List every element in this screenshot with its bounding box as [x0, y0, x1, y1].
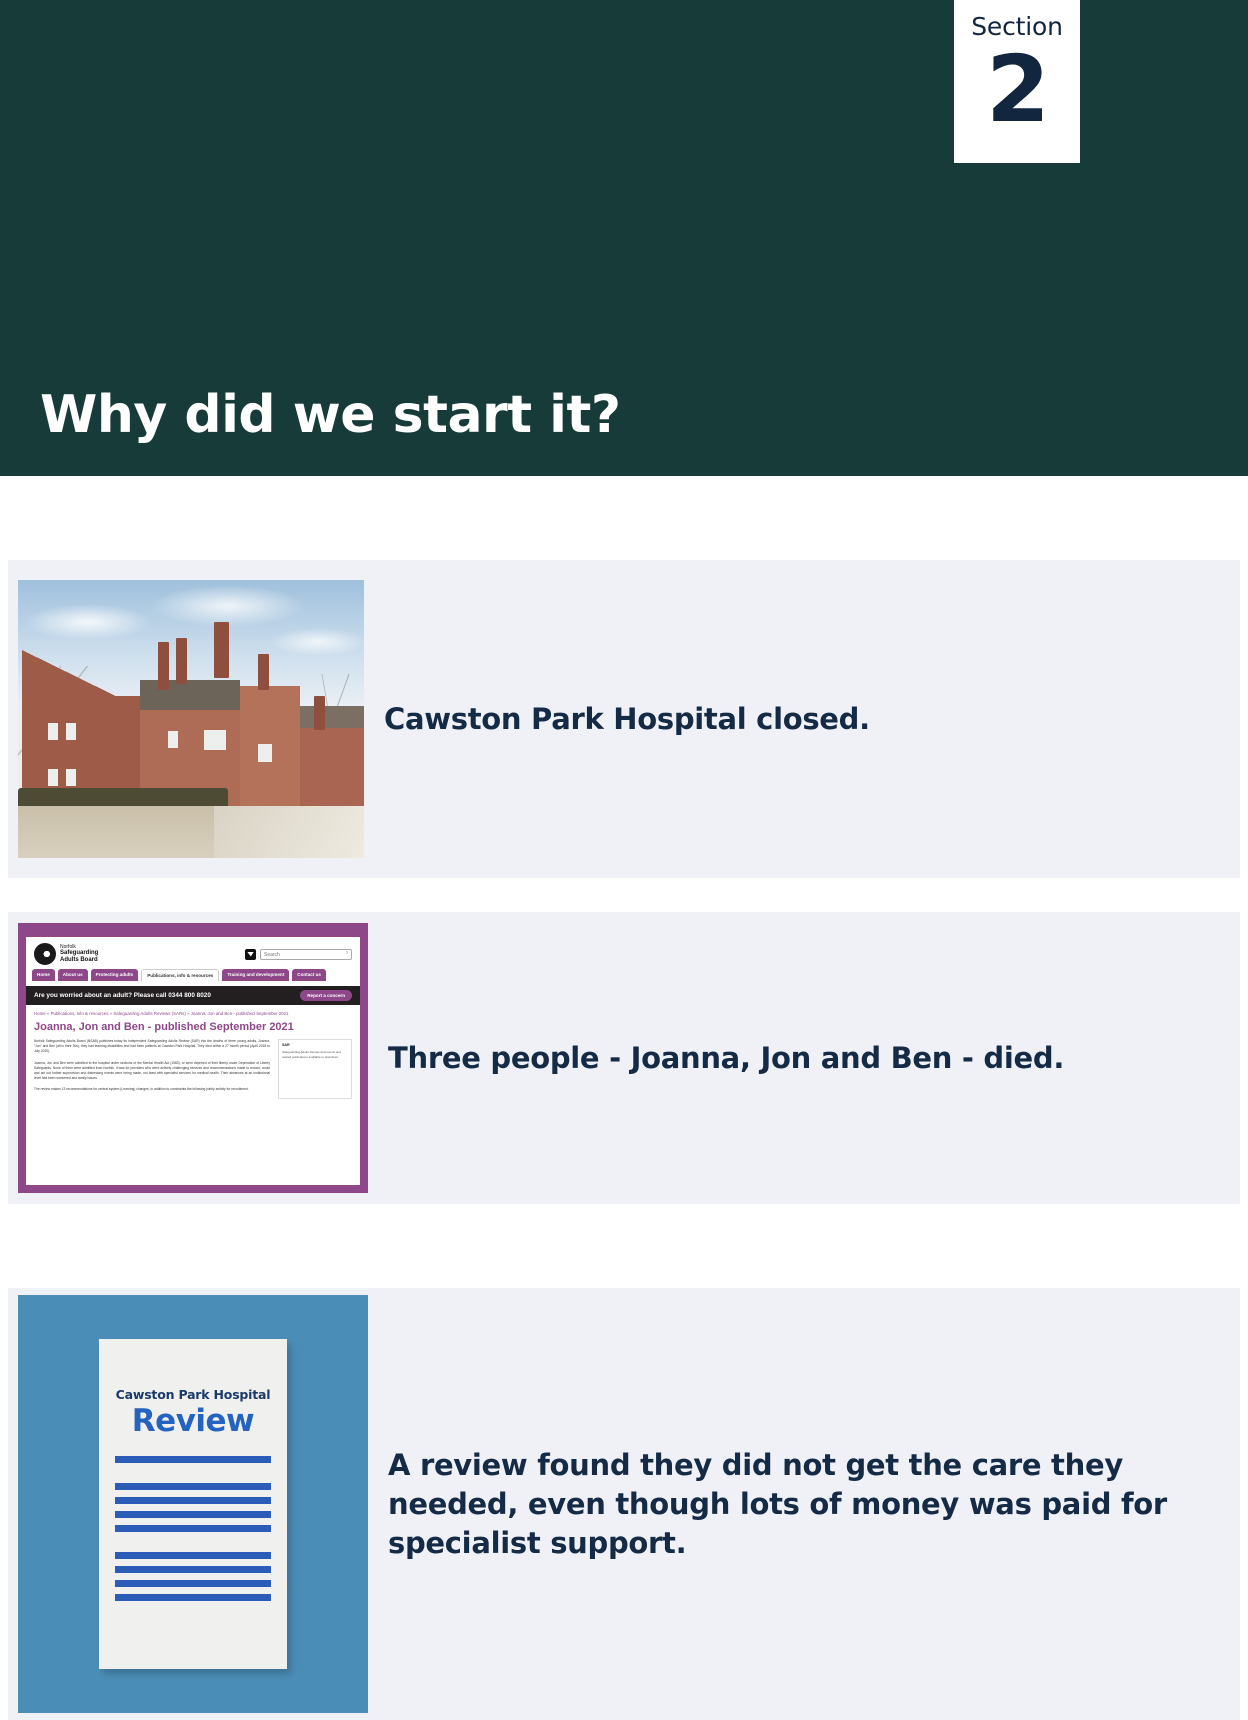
chimney — [214, 622, 229, 678]
window — [168, 731, 178, 748]
row-caption-hospital-closed: Cawston Park Hospital closed. — [384, 700, 870, 739]
website-page-heading: Joanna, Jon and Ben - published Septembe… — [26, 1016, 360, 1037]
website-paragraph: The review makes 13 recommendations for … — [34, 1087, 270, 1092]
window — [258, 744, 272, 762]
search-input[interactable]: Search — [260, 949, 352, 960]
chimney — [158, 642, 169, 690]
nav-item-contact-us[interactable]: Contact us — [292, 969, 326, 981]
page-header: Section 2 Why did we start it? — [0, 0, 1248, 476]
nsab-website: Norfolk Safeguarding Adults Board Search… — [26, 937, 360, 1185]
website-paragraph: Joanna, Jon and Ben were admitted to the… — [34, 1061, 270, 1082]
chimney — [314, 696, 325, 730]
document-line — [115, 1566, 271, 1573]
nav-item-publications[interactable]: Publications, info & resources — [141, 969, 219, 981]
review-document-card: Cawston Park Hospital Review — [99, 1339, 287, 1669]
document-subtitle: Cawston Park Hospital — [115, 1387, 271, 1402]
window — [66, 723, 76, 740]
document-line-gap — [115, 1470, 271, 1483]
row-caption-review-found: A review found they did not get the care… — [388, 1446, 1240, 1563]
website-nav: Home About us Protecting adults Publicat… — [26, 967, 360, 985]
document-line — [115, 1456, 271, 1463]
logo-line-3: Adults Board — [60, 957, 98, 963]
website-search-area: Search — [245, 949, 352, 960]
document-line — [115, 1552, 271, 1559]
driveway — [214, 806, 364, 858]
nav-item-protecting-adults[interactable]: Protecting adults — [91, 969, 139, 981]
document-text-lines — [115, 1456, 271, 1601]
document-title: Review — [115, 1402, 271, 1440]
website-sidebar: SAR Safeguarding Adults Review documents… — [278, 1039, 352, 1099]
document-line — [115, 1511, 271, 1518]
nav-item-training[interactable]: Training and development — [222, 969, 289, 981]
nsab-logo: Norfolk Safeguarding Adults Board — [34, 943, 98, 965]
content-row-three-people-died: Norfolk Safeguarding Adults Board Search… — [8, 912, 1240, 1204]
window — [48, 723, 58, 740]
screenshot-nsab-website-frame: Norfolk Safeguarding Adults Board Search… — [18, 923, 368, 1193]
document-line — [115, 1580, 271, 1587]
document-line — [115, 1497, 271, 1504]
chimney — [176, 638, 187, 684]
twitter-icon[interactable] — [245, 949, 256, 960]
website-alert-banner: Are you worried about an adult? Please c… — [26, 986, 360, 1005]
row-caption-three-people-died: Three people - Joanna, Jon and Ben - die… — [388, 1039, 1064, 1078]
nsab-logo-mark-icon — [34, 943, 56, 965]
media-container: Cawston Park Hospital Review — [18, 1295, 368, 1713]
report-a-concern-button[interactable]: Report a concern — [300, 990, 352, 1001]
logo-line-2: Safeguarding — [60, 950, 98, 956]
section-badge: Section 2 — [954, 0, 1080, 163]
document-line-gap — [115, 1539, 271, 1552]
nav-item-about-us[interactable]: About us — [58, 969, 88, 981]
website-header: Norfolk Safeguarding Adults Board Search — [26, 937, 360, 967]
building-right-roof — [300, 706, 364, 728]
content-row-hospital-closed: Cawston Park Hospital closed. — [8, 560, 1240, 878]
website-paragraph: Norfolk Safeguarding Adults Board (NSAB)… — [34, 1039, 270, 1055]
media-container: Norfolk Safeguarding Adults Board Search… — [18, 923, 368, 1193]
breadcrumb[interactable]: Home » Publications, info & resources » … — [26, 1005, 360, 1016]
nav-item-home[interactable]: Home — [32, 969, 55, 981]
alert-message: Are you worried about an adult? Please c… — [34, 992, 211, 999]
document-line — [115, 1594, 271, 1601]
window — [204, 730, 226, 750]
nsab-logo-text: Norfolk Safeguarding Adults Board — [60, 945, 98, 963]
document-line — [115, 1483, 271, 1490]
website-main-column: Norfolk Safeguarding Adults Board (NSAB)… — [34, 1039, 270, 1099]
section-badge-number: 2 — [986, 44, 1048, 136]
document-line — [115, 1525, 271, 1532]
content-row-review-found: Cawston Park Hospital Review A revi — [8, 1288, 1240, 1720]
website-body: Norfolk Safeguarding Adults Board (NSAB)… — [26, 1037, 360, 1099]
illustration-review-document-frame: Cawston Park Hospital Review — [18, 1295, 368, 1713]
chimney — [258, 654, 269, 690]
page-title: Why did we start it? — [40, 384, 621, 446]
window — [48, 769, 58, 786]
photo-cawston-park-hospital-building — [18, 580, 364, 858]
sidebar-text: Safeguarding Adults Review documents and… — [282, 1050, 348, 1059]
media-container — [18, 580, 364, 858]
sidebar-title: SAR — [282, 1043, 348, 1047]
window — [66, 769, 76, 786]
building-mid-roof — [140, 680, 240, 710]
building-right-block — [300, 728, 364, 806]
